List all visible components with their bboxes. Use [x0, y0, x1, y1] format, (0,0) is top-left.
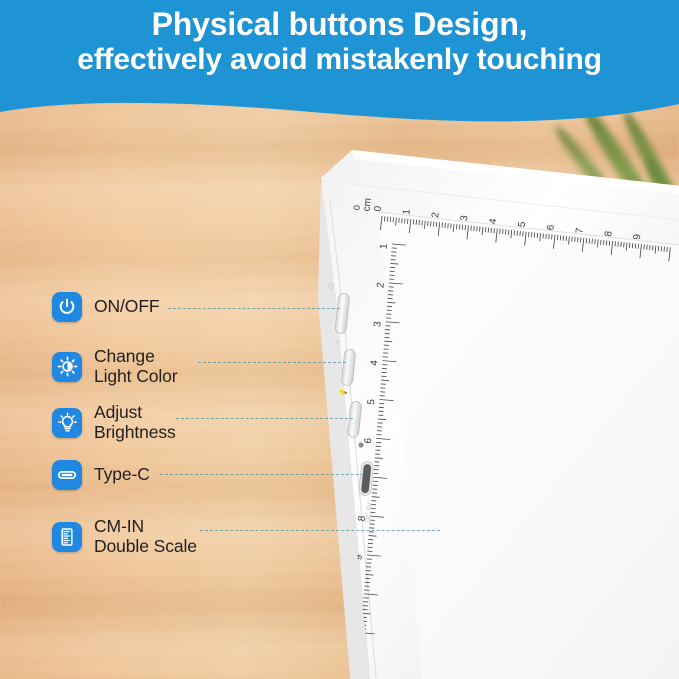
callout-connector: [160, 474, 364, 475]
feature-label: CM-IN Double Scale: [94, 517, 197, 556]
ruler-icon: [52, 522, 82, 552]
banner-headline: Physical buttons Design,: [0, 8, 679, 42]
feature-change-light-color[interactable]: Change Light Color: [52, 347, 178, 386]
sun-contrast-icon: [52, 352, 82, 382]
usb-c-port-icon: [52, 460, 82, 490]
feature-label: Type-C: [94, 465, 150, 485]
callout-connector: [168, 308, 340, 309]
callout-connector: [176, 418, 353, 419]
callout-connector: [198, 362, 346, 363]
header-banner: Physical buttons Design, effectively avo…: [0, 0, 679, 150]
power-icon: [52, 292, 82, 322]
banner-subheadline: effectively avoid mistakenly touching: [0, 44, 679, 76]
feature-on-off[interactable]: ON/OFF: [52, 292, 160, 322]
feature-type-c[interactable]: Type-C: [52, 460, 150, 490]
feature-adjust-brightness[interactable]: Adjust Brightness: [52, 403, 176, 442]
feature-label: ON/OFF: [94, 297, 160, 317]
product-feature-image: 0 1 2 3 4 5 6 7 8 9 cm 0: [0, 0, 679, 679]
feature-label: Adjust Brightness: [94, 403, 176, 442]
lightbulb-icon: [52, 408, 82, 438]
feature-label: Change Light Color: [94, 347, 178, 386]
callout-connector: [200, 530, 440, 531]
feature-cm-in-double-scale[interactable]: CM-IN Double Scale: [52, 517, 197, 556]
banner-text: Physical buttons Design, effectively avo…: [0, 8, 679, 76]
